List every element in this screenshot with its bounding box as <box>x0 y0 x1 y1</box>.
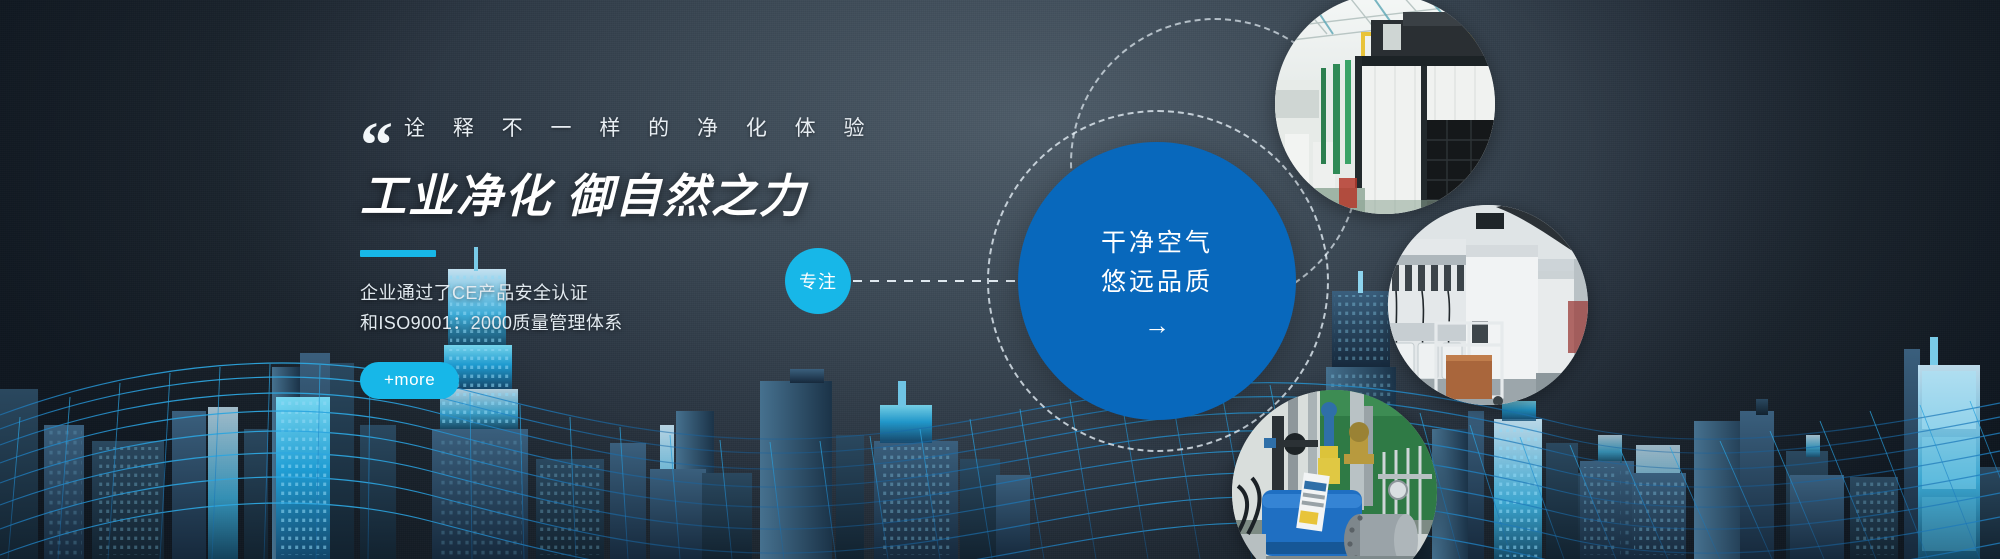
hero-subtext-line-2: 和ISO9001：2000质量管理体系 <box>360 309 876 339</box>
industrial-plant-interior-photo[interactable] <box>1275 0 1495 214</box>
focus-bubble[interactable]: 专注 <box>785 248 851 314</box>
hero-banner: “ 诠 释 不 一 样 的 净 化 体 验 工业净化 御自然之力 企业通过了CE… <box>0 0 2000 559</box>
main-circle-line-2: 悠远品质 <box>1101 263 1213 302</box>
quotation-mark-icon: “ <box>360 120 391 173</box>
arrow-right-icon: → <box>1144 312 1170 338</box>
textile-machinery-photo[interactable] <box>1388 205 1588 405</box>
more-button[interactable]: +more <box>360 362 459 399</box>
main-circle-line-1: 干净空气 <box>1101 224 1213 263</box>
hero-headline: 工业净化 御自然之力 <box>360 160 876 226</box>
focus-bubble-label: 专注 <box>799 268 837 294</box>
hero-kicker: 诠 释 不 一 样 的 净 化 体 验 <box>404 112 876 142</box>
dashed-connector-line <box>853 280 1025 282</box>
wireframe-terrain-decoration <box>0 319 2000 559</box>
accent-rule-divider <box>360 250 436 257</box>
main-message-circle[interactable]: 干净空气 悠远品质 → <box>1018 142 1296 420</box>
